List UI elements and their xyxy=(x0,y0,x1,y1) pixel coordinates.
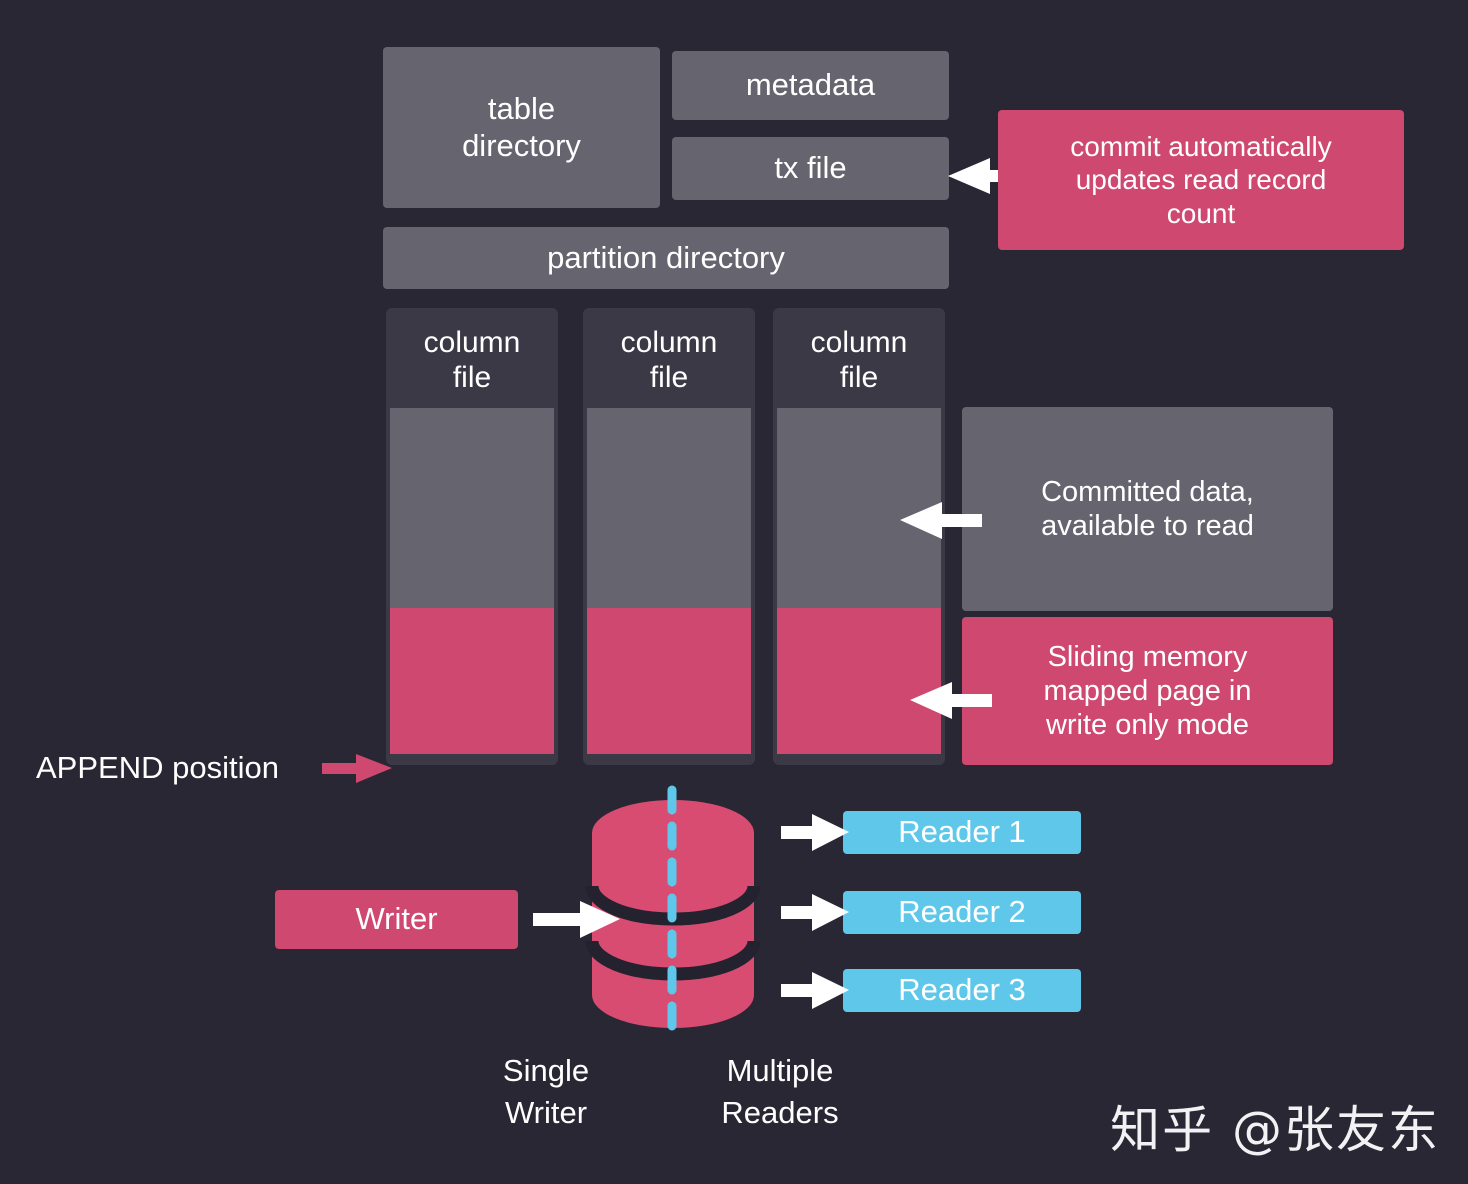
append-position-arrow-icon xyxy=(322,754,392,783)
reader-2-arrow-icon xyxy=(781,894,849,931)
reader-3-box: Reader 3 xyxy=(843,969,1081,1012)
reader-1-box: Reader 1 xyxy=(843,811,1081,854)
column-file-1-label: column file xyxy=(390,312,554,408)
table-directory-box: table directory xyxy=(383,47,660,208)
partition-directory-box: partition directory xyxy=(383,227,949,289)
column-file-3-sliding-region xyxy=(777,608,941,754)
append-position-label: APPEND position xyxy=(36,750,279,786)
commit-arrow-icon xyxy=(948,158,998,194)
column-file-1-sliding-region xyxy=(390,608,554,754)
column-file-2-label: column file xyxy=(587,312,751,408)
metadata-box: metadata xyxy=(672,51,949,120)
commit-note-callout: commit automatically updates read record… xyxy=(998,110,1404,250)
column-file-1: column file xyxy=(386,308,558,765)
column-file-3-label: column file xyxy=(777,312,941,408)
watermark: 知乎 @张友东 xyxy=(1110,1090,1440,1162)
column-file-3: column file xyxy=(773,308,945,765)
diagram-canvas: table directory metadata tx file partiti… xyxy=(0,0,1468,1184)
column-file-2: column file xyxy=(583,308,755,765)
database-cylinder-icon xyxy=(592,800,754,1028)
reader-1-arrow-icon xyxy=(781,814,849,851)
reader-3-arrow-icon xyxy=(781,972,849,1009)
multiple-readers-caption: Multiple Readers xyxy=(690,1050,870,1134)
single-writer-caption: Single Writer xyxy=(462,1050,630,1134)
column-file-3-committed-region xyxy=(777,408,941,608)
column-file-2-sliding-region xyxy=(587,608,751,754)
writer-arrow-icon xyxy=(533,901,620,938)
column-file-2-committed-region xyxy=(587,408,751,608)
sliding-memory-callout: Sliding memory mapped page in write only… xyxy=(962,617,1333,765)
committed-data-callout: Committed data, available to read xyxy=(962,407,1333,611)
column-file-1-committed-region xyxy=(390,408,554,608)
tx-file-box: tx file xyxy=(672,137,949,200)
writer-box: Writer xyxy=(275,890,518,949)
reader-2-box: Reader 2 xyxy=(843,891,1081,934)
